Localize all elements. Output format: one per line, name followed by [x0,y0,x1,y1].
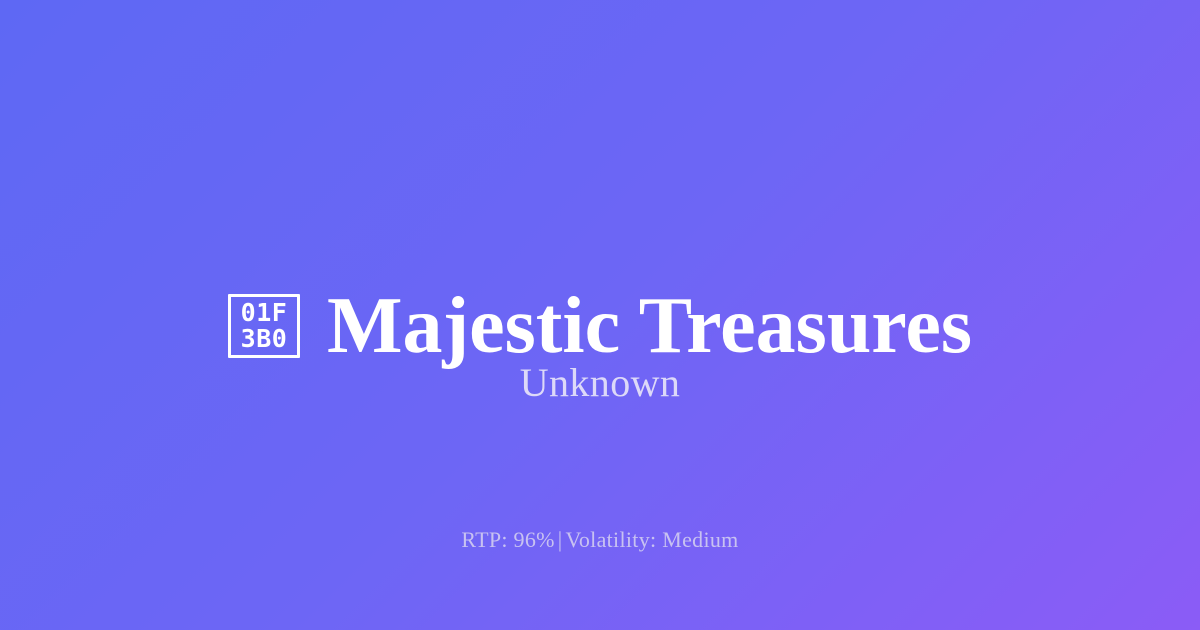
og-card: 01F 3B0 Majestic Treasures Unknown RTP: … [0,0,1200,630]
meta-separator: | [555,527,566,552]
slot-machine-icon: 01F 3B0 [228,294,300,358]
volatility-value: Volatility: Medium [566,527,739,552]
subtitle: Unknown [0,363,1200,403]
rtp-value: RTP: 96% [461,527,554,552]
slot-machine-icon-codepoint-low: 3B0 [241,326,288,352]
page-title: Majestic Treasures [327,286,972,366]
game-stats-line: RTP: 96%|Volatility: Medium [0,529,1200,551]
slot-machine-icon-codepoint-high: 01F [241,300,288,326]
